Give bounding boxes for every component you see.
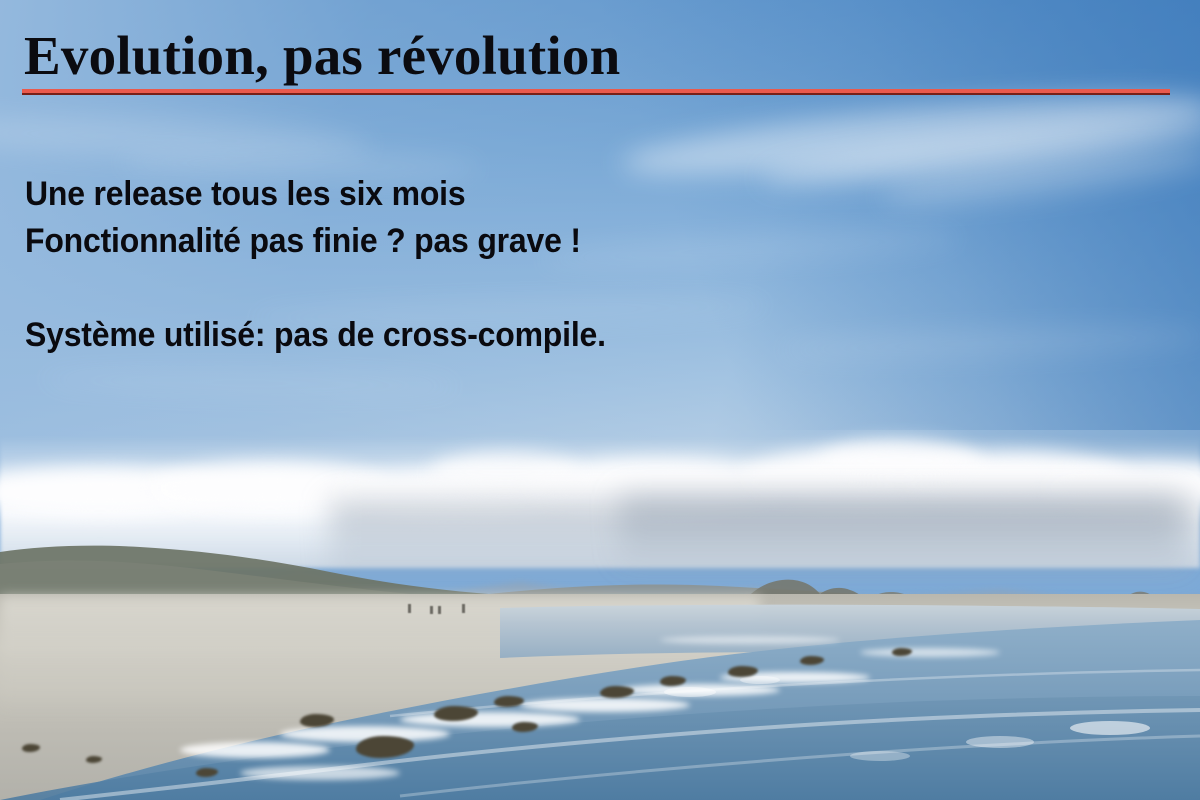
cloud-puff [820,440,980,482]
slide-body: Une release tous les six mois Fonctionna… [25,171,1135,359]
background-photo [0,0,1200,800]
sea-foam [620,684,780,696]
sea-foam [520,698,690,712]
sea-water [0,560,1200,800]
sea-foam [400,712,580,727]
sea-foam [240,766,400,780]
sea-foam [860,648,1000,657]
bullet-line: Une release tous les six mois [25,171,1068,218]
bullet-line: Système utilisé: pas de cross-compile. [25,312,1068,359]
title-underline-rule [22,89,1170,95]
sea-foam [660,636,840,644]
sea-foam [180,742,330,758]
slide-title: Evolution, pas révolution [24,26,620,85]
bullet-line: Fonctionnalité pas finie ? pas grave ! [25,218,1068,265]
cloud-puff [430,452,580,492]
presentation-slide: Evolution, pas révolution Une release to… [0,0,1200,800]
